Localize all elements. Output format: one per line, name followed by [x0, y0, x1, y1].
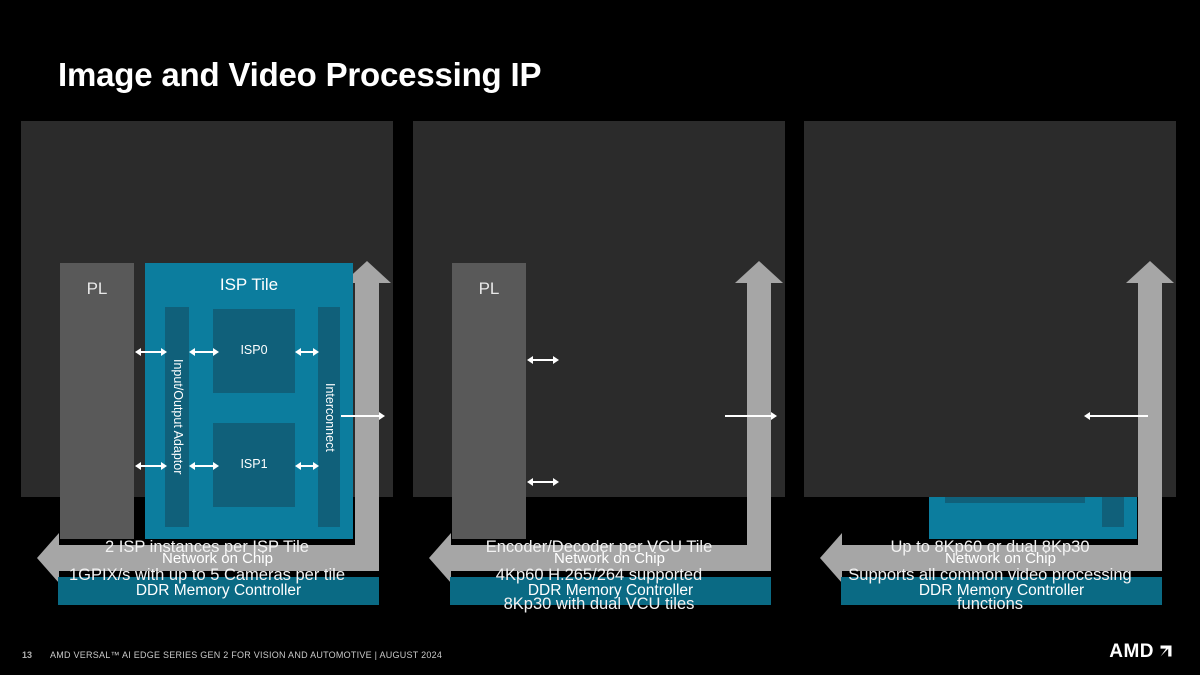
- arrow-ioa-to-isp0-icon: [195, 351, 213, 353]
- caption-vpp-line1: Up to 8Kp60 or dual 8Kp30: [804, 533, 1176, 561]
- isp1-block: ISP1: [213, 423, 295, 507]
- caption-vcu-line1: Encoder/Decoder per VCU Tile: [413, 533, 785, 561]
- isp-tile: ISP Tile Input/Output Adaptor ISP0 ISP1 …: [145, 263, 353, 539]
- arrow-isp1-to-interconnect-icon: [301, 465, 313, 467]
- amd-arrow-mark-icon: [1156, 641, 1176, 661]
- caption-vcu: Encoder/Decoder per VCU Tile 4Kp60 H.265…: [413, 533, 785, 618]
- pl-label-isp: PL: [87, 279, 108, 299]
- caption-isp: 2 ISP instances per ISP Tile 1GPIX/s wit…: [21, 533, 393, 590]
- panel-isp: Network on Chip PL ISP Tile Input/Output…: [21, 121, 393, 497]
- arrow-pl-to-ioa-bottom-icon: [141, 465, 161, 467]
- pl-label-vcu: PL: [479, 279, 500, 299]
- arrow-isp0-to-interconnect-icon: [301, 351, 313, 353]
- slide-root: Image and Video Processing IP Network on…: [0, 0, 1200, 675]
- noc-up-arrowhead-icon: [1126, 261, 1174, 283]
- input-output-adaptor-label: Input/Output Adaptor: [169, 359, 185, 474]
- panel-vcu: Network on Chip PL VCU Tile Encoder Engi…: [413, 121, 785, 497]
- arrow-noc-to-vpp-interconnect-icon: [1090, 415, 1148, 417]
- isp-tile-title: ISP Tile: [145, 275, 353, 295]
- noc-vertical-shaft: [747, 281, 771, 571]
- isp0-block: ISP0: [213, 309, 295, 393]
- arrow-pl-to-ioa-top-icon: [141, 351, 161, 353]
- pl-block-isp: PL: [60, 263, 134, 539]
- caption-vpp-line2: Supports all common video processing fun…: [804, 561, 1176, 618]
- caption-isp-line1: 2 ISP instances per ISP Tile: [21, 533, 393, 561]
- caption-isp-line2: 1GPIX/s with up to 5 Cameras per tile: [21, 561, 393, 589]
- arrow-vcu-interconnect-to-noc-icon: [725, 415, 771, 417]
- arrow-ioa-to-isp1-icon: [195, 465, 213, 467]
- caption-vpp: Up to 8Kp60 or dual 8Kp30 Supports all c…: [804, 533, 1176, 618]
- noc-vertical-shaft: [1138, 281, 1162, 571]
- isp-interconnect-label: Interconnect: [321, 383, 337, 452]
- page-title: Image and Video Processing IP: [58, 56, 541, 94]
- noc-vertical-shaft: [355, 281, 379, 571]
- caption-vcu-line3: 8Kp30 with dual VCU tiles: [413, 590, 785, 618]
- isp1-label: ISP1: [240, 457, 267, 473]
- noc-up-arrowhead-icon: [735, 261, 783, 283]
- slide-number: 13: [22, 650, 32, 660]
- footer-text: AMD VERSAL™ AI EDGE SERIES GEN 2 FOR VIS…: [50, 650, 442, 660]
- panel-vpp: Network on Chip VPP Tile DMA Read VideoP…: [804, 121, 1176, 497]
- arrow-pl-to-vcu-bottom-icon: [533, 481, 553, 483]
- amd-wordmark: AMD: [1109, 642, 1154, 661]
- input-output-adaptor-block: Input/Output Adaptor: [165, 307, 189, 527]
- arrow-pl-to-vcu-top-icon: [533, 359, 553, 361]
- isp-interconnect-block: Interconnect: [318, 307, 340, 527]
- amd-logo: AMD: [1109, 641, 1176, 661]
- caption-vcu-line2: 4Kp60 H.265/264 supported: [413, 561, 785, 589]
- arrow-interconnect-to-noc-icon: [341, 415, 379, 417]
- pl-block-vcu: PL: [452, 263, 526, 539]
- isp0-label: ISP0: [240, 343, 267, 359]
